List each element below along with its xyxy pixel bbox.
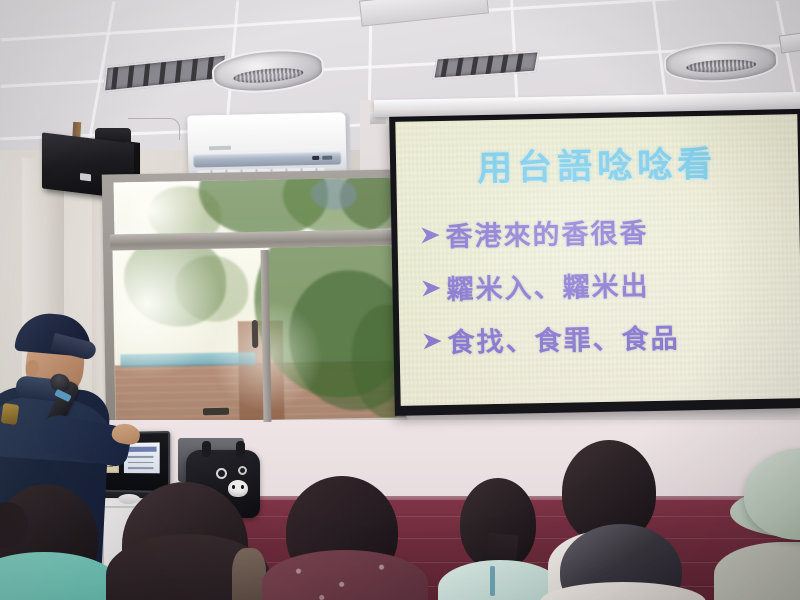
backpack-keyring-2 bbox=[238, 466, 247, 475]
ac-display-led bbox=[312, 156, 319, 160]
window-handle[interactable] bbox=[252, 320, 258, 348]
presenter-badge bbox=[1, 403, 20, 425]
window-latch[interactable] bbox=[203, 408, 229, 415]
ceiling-round-diffuser bbox=[210, 45, 325, 97]
ac-indicator-led bbox=[322, 156, 332, 160]
slide-bullet-1-text: 香港來的香很香 bbox=[445, 211, 649, 254]
slide-bullet-1: 香港來的香很香 bbox=[419, 208, 790, 254]
slide-bullet-3: 食找、食罪、食品 bbox=[421, 314, 792, 360]
speaker-cable bbox=[128, 118, 180, 140]
window-upper-pane bbox=[114, 178, 397, 235]
audience-hair-highlight bbox=[232, 548, 266, 600]
ceiling-air-vent bbox=[103, 53, 227, 92]
chevron-arrow-bullet-icon bbox=[421, 331, 443, 351]
slide-bullet-list: 香港來的香很香 糶米入、糶米出 食找、食罪、食品 bbox=[419, 208, 792, 374]
projected-slide: 用台語唸唸看 香港來的香很香 糶米入、糶米出 bbox=[395, 114, 800, 406]
backpack-keyring bbox=[216, 468, 227, 479]
ceiling-fixture-small bbox=[779, 32, 800, 53]
ceiling-projector-mount bbox=[359, 0, 489, 27]
speaker-logo bbox=[80, 173, 91, 181]
ac-brand-label bbox=[209, 146, 231, 150]
ceiling-air-vent-right bbox=[432, 50, 540, 80]
outdoor-teal-roofline bbox=[120, 352, 256, 367]
ceiling-round-diffuser-right bbox=[663, 39, 779, 85]
slide-title: 用台語唸唸看 bbox=[396, 134, 799, 193]
chevron-arrow-bullet-icon bbox=[419, 225, 441, 245]
slide-bullet-3-text: 食找、食罪、食品 bbox=[447, 316, 680, 359]
classroom-photo: 用台語唸唸看 香港來的香很香 糶米入、糶米出 bbox=[0, 0, 800, 600]
ac-louver bbox=[193, 150, 342, 168]
slide-bullet-2: 糶米入、糶米出 bbox=[420, 261, 791, 307]
audience-lanyard bbox=[490, 566, 495, 596]
backpack-charm bbox=[228, 480, 248, 497]
slide-bullet-2-text: 糶米入、糶米出 bbox=[446, 264, 650, 307]
chevron-arrow-bullet-icon bbox=[420, 278, 442, 298]
